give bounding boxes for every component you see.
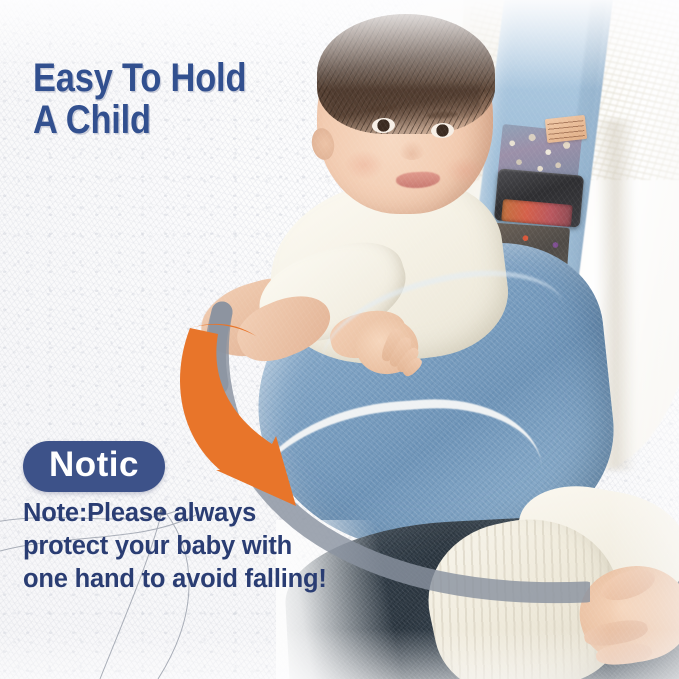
- page-title: Easy To Hold A Child: [33, 57, 246, 141]
- orange-arrow-icon: [176, 318, 346, 508]
- care-tag-text: [547, 118, 585, 140]
- baby-cheek-left: [344, 150, 384, 180]
- baby-nose: [399, 140, 425, 160]
- product-image: Easy To Hold A Child Notic Note:Please a…: [0, 0, 679, 679]
- baby-hair-fringe: [330, 84, 480, 128]
- baby-cheek-right: [445, 156, 485, 186]
- notice-badge: Notic: [23, 441, 165, 492]
- notice-body-text: Note:Please always protect your baby wit…: [23, 497, 327, 596]
- care-tag: [545, 115, 587, 143]
- fade-right: [609, 0, 679, 679]
